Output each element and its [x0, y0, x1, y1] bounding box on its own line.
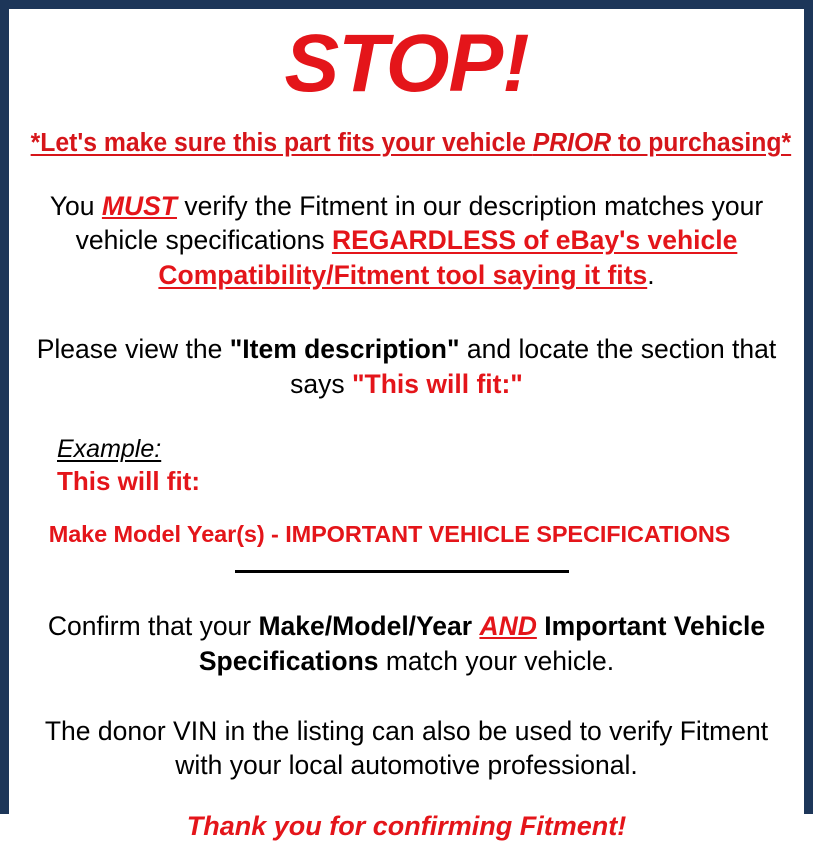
example-spec-line: Make Model Year(s) - IMPORTANT VEHICLE S…: [19, 521, 794, 548]
subtitle-emphasis: PRIOR: [533, 129, 611, 157]
must-part3: .: [647, 260, 654, 290]
confirm-part1: Confirm that your: [48, 611, 259, 641]
item-description-label: "Item description": [230, 334, 460, 364]
example-block: Example: This will fit:: [19, 435, 794, 497]
must-verify-paragraph: You MUST verify the Fitment in our descr…: [19, 189, 794, 292]
and-emphasis: AND: [479, 611, 536, 641]
page-title: STOP!: [19, 23, 794, 105]
confirm-paragraph: Confirm that your Make/Model/Year AND Im…: [19, 609, 794, 678]
notice-inner: STOP! *Let's make sure this part fits yo…: [9, 23, 804, 819]
example-label: Example:: [57, 435, 161, 464]
please-part1: Please view the: [37, 334, 230, 364]
confirm-part2: match your vehicle.: [379, 646, 615, 676]
example-heading: This will fit:: [57, 466, 794, 497]
section-divider: [235, 570, 569, 573]
thanks-line: Thank you for confirming Fitment!: [19, 811, 794, 842]
must-part1: You: [50, 191, 102, 221]
subtitle-line: *Let's make sure this part fits your veh…: [31, 129, 783, 157]
must-emphasis: MUST: [102, 191, 177, 221]
subtitle-tail: to purchasing*: [611, 129, 791, 157]
this-will-fit-quote: "This will fit:": [352, 369, 523, 399]
divider-wrap: [19, 570, 794, 573]
item-description-paragraph: Please view the "Item description" and l…: [19, 332, 794, 401]
make-model-year-label: Make/Model/Year: [258, 611, 472, 641]
fitment-notice-card: STOP! *Let's make sure this part fits yo…: [0, 0, 813, 814]
subtitle-lead: *Let's make sure this part fits your veh…: [31, 129, 533, 157]
vin-paragraph: The donor VIN in the listing can also be…: [19, 714, 794, 783]
